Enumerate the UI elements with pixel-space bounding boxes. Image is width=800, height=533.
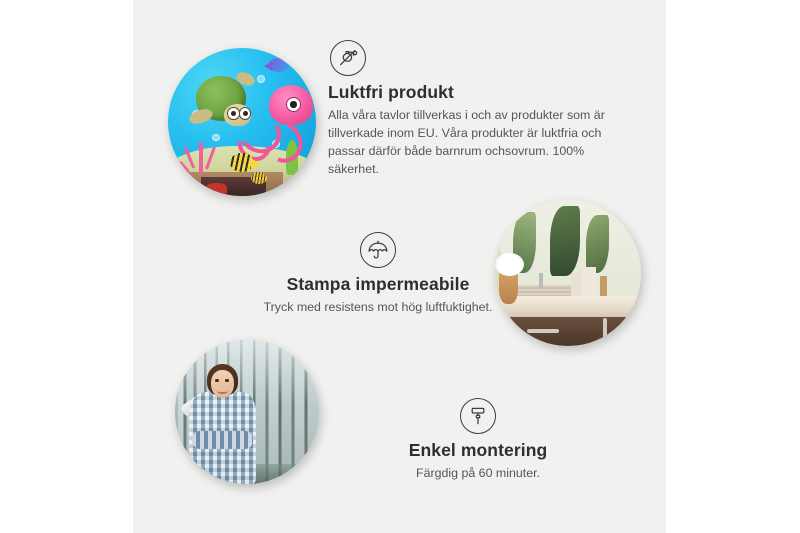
toiletry-bottle (571, 273, 581, 296)
bubble-icon (257, 75, 265, 83)
woman-eye (215, 379, 219, 382)
feature-odour-free: Luktfri produkt Alla våra tavlor tillver… (328, 40, 628, 179)
vanity-cabinet (504, 317, 641, 346)
feature-title: Enkel montering (328, 440, 628, 461)
woman-eye (225, 379, 229, 382)
product-photo-underwater-scene[interactable] (168, 48, 316, 196)
leaf-shape (550, 206, 579, 276)
feature-waterproof: Stampa impermeabile Tryck med resistens … (208, 232, 548, 317)
feature-title: Stampa impermeabile (208, 274, 548, 295)
umbrella-icon (360, 232, 396, 268)
infographic-screen: Luktfri produkt Alla våra tavlor tillver… (0, 0, 800, 533)
feature-body: Alla våra tavlor tillverkas i och av pro… (328, 107, 628, 179)
blue-fish-icon (269, 58, 290, 71)
forest-illustration (175, 340, 319, 484)
turtle-eye (239, 107, 251, 119)
pink-coral-icon (183, 134, 221, 175)
toiletry-bottle (600, 276, 607, 296)
yellow-fish-icon (230, 153, 254, 172)
leaf-shape (586, 215, 609, 273)
paint-roller-icon (460, 398, 496, 434)
feature-body: Färgdig på 60 minuter. (328, 465, 628, 483)
sea-red-object (206, 183, 227, 195)
turtle-eye (227, 107, 239, 119)
feature-body: Tryck med resistens mot hög luftfuktighe… (208, 299, 548, 317)
no-smell-icon (330, 40, 366, 76)
product-photo-woman-with-roller-forest[interactable] (175, 340, 319, 484)
woman-crossed-arms (192, 431, 252, 450)
woman-smile (217, 388, 229, 394)
underwater-illustration (168, 48, 316, 196)
feature-title: Luktfri produkt (328, 82, 628, 103)
toiletry-bottle (583, 267, 596, 296)
feature-easy-mounting: Enkel montering Färgdig på 60 minuter. (328, 398, 628, 483)
cabinet-handle (603, 318, 607, 343)
cabinet-handle (527, 329, 559, 333)
content-stage: Luktfri produkt Alla våra tavlor tillver… (133, 0, 666, 533)
